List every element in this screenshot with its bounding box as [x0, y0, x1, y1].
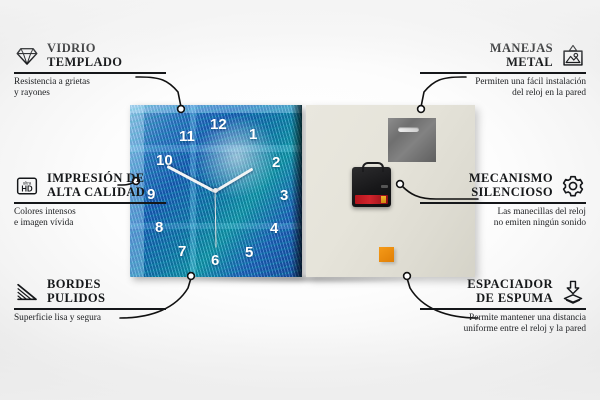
feature-callout-impresion-alta-calidad: ultra HD IMPRESIÓN DE ALTA CALIDAD Color…: [14, 172, 166, 229]
polished-edge-icon: [14, 279, 40, 305]
feature-callout-espaciador-de-espuma: ESPACIADOR DE ESPUMA Permite mantener un…: [420, 278, 586, 335]
clock-numeral-11: 11: [179, 129, 195, 144]
infographic-canvas: 12 1 2 3 4 5 6 7 8 9 10 11: [0, 0, 600, 400]
arrow-on-pad-icon: [560, 279, 586, 305]
clock-numeral-6: 6: [211, 253, 219, 268]
feature-title: BORDES PULIDOS: [47, 278, 105, 305]
feature-head: MANEJAS METAL: [420, 42, 586, 69]
diamond-icon: [14, 43, 40, 69]
clock-hour-hand: [214, 168, 253, 194]
feature-description: Las manecillas del reloj no emiten ningú…: [420, 207, 586, 230]
feature-rule: [420, 72, 586, 74]
clock-numeral-12: 12: [210, 117, 227, 132]
clock-numeral-5: 5: [245, 245, 253, 260]
clock-minute-hand: [167, 165, 216, 193]
hanger-slot: [398, 127, 419, 132]
battery-terminal: [381, 196, 386, 203]
framed-picture-hook-icon: [560, 43, 586, 69]
feature-description: Superficie lisa y segura: [14, 313, 166, 324]
feature-head: ultra HD IMPRESIÓN DE ALTA CALIDAD: [14, 172, 166, 199]
clock-numeral-1: 1: [249, 127, 257, 142]
quartz-mechanism-box: [352, 167, 391, 207]
feature-description: Resistencia a grietas y rayones: [14, 77, 166, 100]
svg-text:HD: HD: [21, 184, 33, 193]
feature-callout-manejas-metal: MANEJAS METAL Permiten una fácil instala…: [420, 42, 586, 99]
mechanism-hanging-loop: [362, 162, 384, 172]
feature-rule: [14, 202, 166, 204]
feature-callout-vidrio-templado: VIDRIO TEMPLADO Resistencia a grietas y …: [14, 42, 166, 99]
ultra-hd-icon: ultra HD: [14, 173, 40, 199]
feature-rule: [420, 308, 586, 310]
feature-head: BORDES PULIDOS: [14, 278, 166, 305]
feature-callout-bordes-pulidos: BORDES PULIDOS Superficie lisa y segura: [14, 278, 166, 324]
feature-title: MANEJAS METAL: [490, 42, 553, 69]
feature-description: Colores intensos e imagen vívida: [14, 207, 166, 230]
clock-numeral-3: 3: [280, 188, 288, 203]
mechanism-time-set-dial: [381, 185, 388, 188]
battery-compartment: [355, 195, 388, 204]
gear-icon: [560, 173, 586, 199]
clock-numeral-2: 2: [272, 155, 280, 170]
clock-hands-hub: [213, 188, 218, 193]
clock-numeral-4: 4: [270, 221, 278, 236]
feature-rule: [14, 72, 166, 74]
feature-head: MECANISMO SILENCIOSO: [420, 172, 586, 199]
feature-description: Permiten una fácil instalación del reloj…: [420, 77, 586, 100]
clock-second-hand: [214, 192, 216, 248]
feature-title: ESPACIADOR DE ESPUMA: [467, 278, 553, 305]
feature-rule: [14, 308, 166, 310]
feature-rule: [420, 202, 586, 204]
clock-numeral-7: 7: [178, 244, 186, 259]
feature-title: MECANISMO SILENCIOSO: [469, 172, 553, 199]
metal-hanger-plate: [388, 118, 436, 162]
feature-title: VIDRIO TEMPLADO: [47, 42, 122, 69]
feature-head: VIDRIO TEMPLADO: [14, 42, 166, 69]
feature-callout-mecanismo-silencioso: MECANISMO SILENCIOSO Las manecillas del …: [420, 172, 586, 229]
feature-title: IMPRESIÓN DE ALTA CALIDAD: [47, 172, 145, 199]
feature-head: ESPACIADOR DE ESPUMA: [420, 278, 586, 305]
foam-spacer: [379, 247, 394, 262]
feature-description: Permite mantener una distancia uniforme …: [420, 313, 586, 336]
